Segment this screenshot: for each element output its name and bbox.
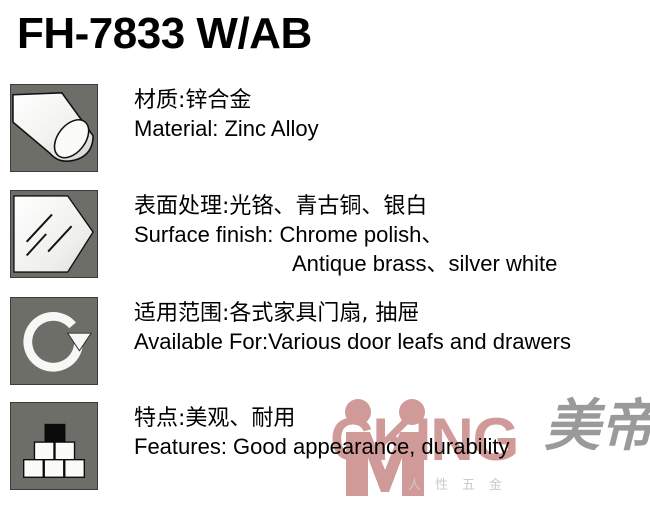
spec-label-cn: 表面处理:光铬、青古铜、银白	[134, 192, 557, 221]
watermark-brand-cn: 美帝	[544, 398, 650, 454]
spec-row: 适用范围:各式家具门扇, 抽屉 Available For:Various do…	[10, 297, 571, 385]
stacked-blocks-pyramid-icon	[10, 402, 98, 490]
polished-surface-shine-icon	[10, 190, 98, 278]
spec-label-en: Available For:Various door leafs and dra…	[134, 328, 571, 357]
spec-label-en: Material: Zinc Alloy	[134, 115, 319, 144]
spec-text: 表面处理:光铬、青古铜、银白 Surface finish: Chrome po…	[134, 190, 557, 278]
spec-label-en: Features: Good appearance, durability	[134, 433, 509, 462]
spec-label-cn: 适用范围:各式家具门扇, 抽屉	[134, 299, 571, 328]
spec-label-cn: 材质:锌合金	[134, 86, 319, 115]
spec-row: 表面处理:光铬、青古铜、银白 Surface finish: Chrome po…	[10, 190, 557, 278]
spec-label-en-continued: Antique brass、silver white	[134, 250, 557, 279]
spec-text: 材质:锌合金 Material: Zinc Alloy	[134, 84, 319, 144]
spec-label-en: Surface finish: Chrome polish、	[134, 221, 557, 250]
zinc-ingot-cylinder-icon	[10, 84, 98, 172]
spec-row: 材质:锌合金 Material: Zinc Alloy	[10, 84, 319, 172]
spec-row: 特点:美观、耐用 Features: Good appearance, dura…	[10, 402, 509, 490]
spec-text: 特点:美观、耐用 Features: Good appearance, dura…	[134, 402, 509, 462]
spec-label-cn: 特点:美观、耐用	[134, 404, 509, 433]
product-spec-sheet: FH-7833 W/AB CKING 美帝 人性五金	[0, 0, 650, 520]
circular-arrow-icon	[10, 297, 98, 385]
page-title: FH-7833 W/AB	[17, 10, 312, 58]
spec-text: 适用范围:各式家具门扇, 抽屉 Available For:Various do…	[134, 297, 571, 357]
